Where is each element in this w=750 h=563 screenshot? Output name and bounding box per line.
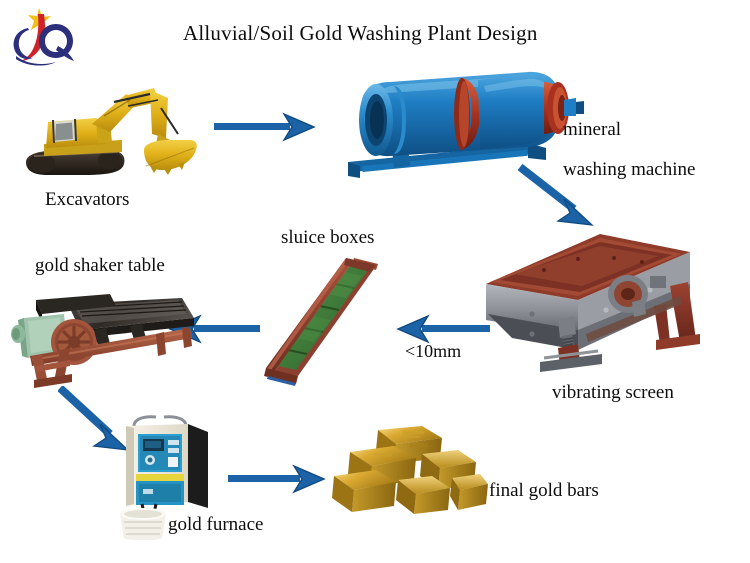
- sluice-box-icon: [258, 252, 406, 388]
- gold-bars-label: final gold bars: [489, 481, 599, 502]
- vibrating-screen-label: vibrating screen: [552, 383, 674, 404]
- excavator-icon: [18, 78, 208, 190]
- gold-furnace-label: gold furnace: [168, 515, 263, 536]
- arrow-furnace-to-goldbars: [228, 462, 328, 501]
- jq-logo: [8, 6, 80, 70]
- shaker-table-icon: [6, 272, 202, 390]
- trommel-label-line1: mineral: [563, 120, 621, 141]
- particle-size-annotation: <10mm: [405, 342, 461, 362]
- arrow-trommel-to-screen: [518, 163, 600, 238]
- page-title: Alluvial/Soil Gold Washing Plant Design: [183, 22, 538, 45]
- sluice-box-label: sluice boxes: [281, 228, 374, 249]
- arrow-excavator-to-trommel: [214, 110, 320, 149]
- vibrating-screen-icon: [474, 228, 706, 376]
- excavator-label: Excavators: [45, 190, 129, 211]
- shaker-table-label: gold shaker table: [35, 256, 165, 277]
- gold-bars-icon: [330, 424, 490, 514]
- diagram-canvas: Alluvial/Soil Gold Washing Plant Design: [0, 0, 750, 563]
